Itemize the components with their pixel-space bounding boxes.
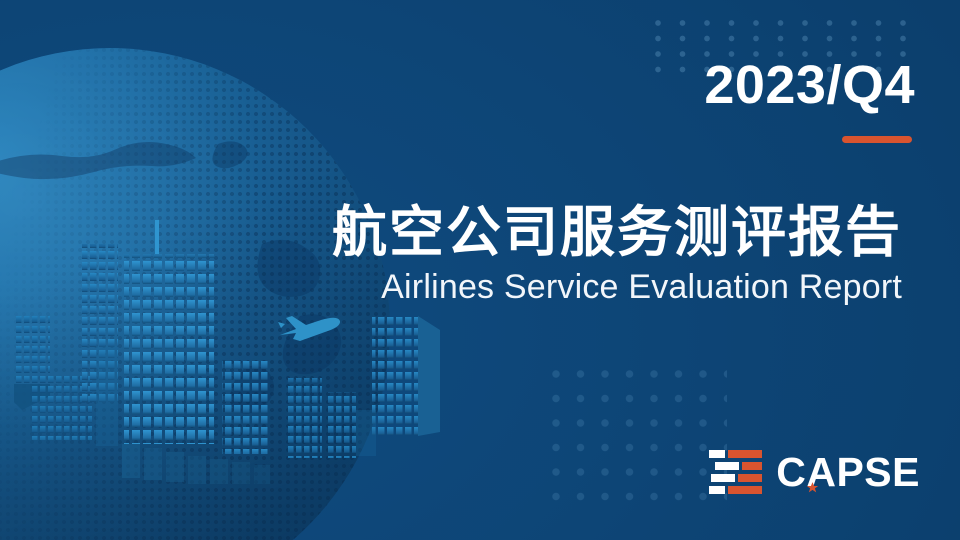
logo-bar-white — [715, 462, 739, 470]
star-shape — [806, 481, 819, 494]
logo-bar-orange — [728, 450, 762, 458]
logo-bar-orange — [742, 462, 762, 470]
capse-logo: CAPSE — [700, 450, 920, 494]
logo-mark-row — [700, 486, 762, 494]
airplane-shape — [276, 302, 342, 346]
logo-bar-white — [711, 474, 735, 482]
capse-logo-mark — [700, 450, 762, 494]
report-cover-slide: 2023/Q4 航空公司服务测评报告 Airlines Service Eval… — [0, 0, 960, 540]
capse-wordmark-text: CAPSE — [776, 449, 920, 495]
logo-bar-orange — [738, 474, 762, 482]
logo-bar-white — [709, 450, 725, 458]
title-block: 航空公司服务测评报告 Airlines Service Evaluation R… — [282, 203, 902, 306]
logo-mark-row — [700, 462, 762, 470]
logo-bar-white — [709, 486, 725, 494]
accent-bar — [842, 136, 912, 143]
page-subtitle-english: Airlines Service Evaluation Report — [282, 268, 902, 306]
capse-wordmark: CAPSE — [776, 452, 920, 493]
airplane-icon — [276, 302, 342, 346]
star-icon — [806, 481, 819, 494]
quarter-block: 2023/Q4 — [704, 57, 915, 143]
logo-bar-orange — [728, 486, 762, 494]
page-title-chinese: 航空公司服务测评报告 — [282, 203, 902, 262]
logo-mark-row — [700, 450, 762, 458]
quarter-label: 2023/Q4 — [704, 57, 915, 113]
logo-mark-row — [700, 474, 762, 482]
